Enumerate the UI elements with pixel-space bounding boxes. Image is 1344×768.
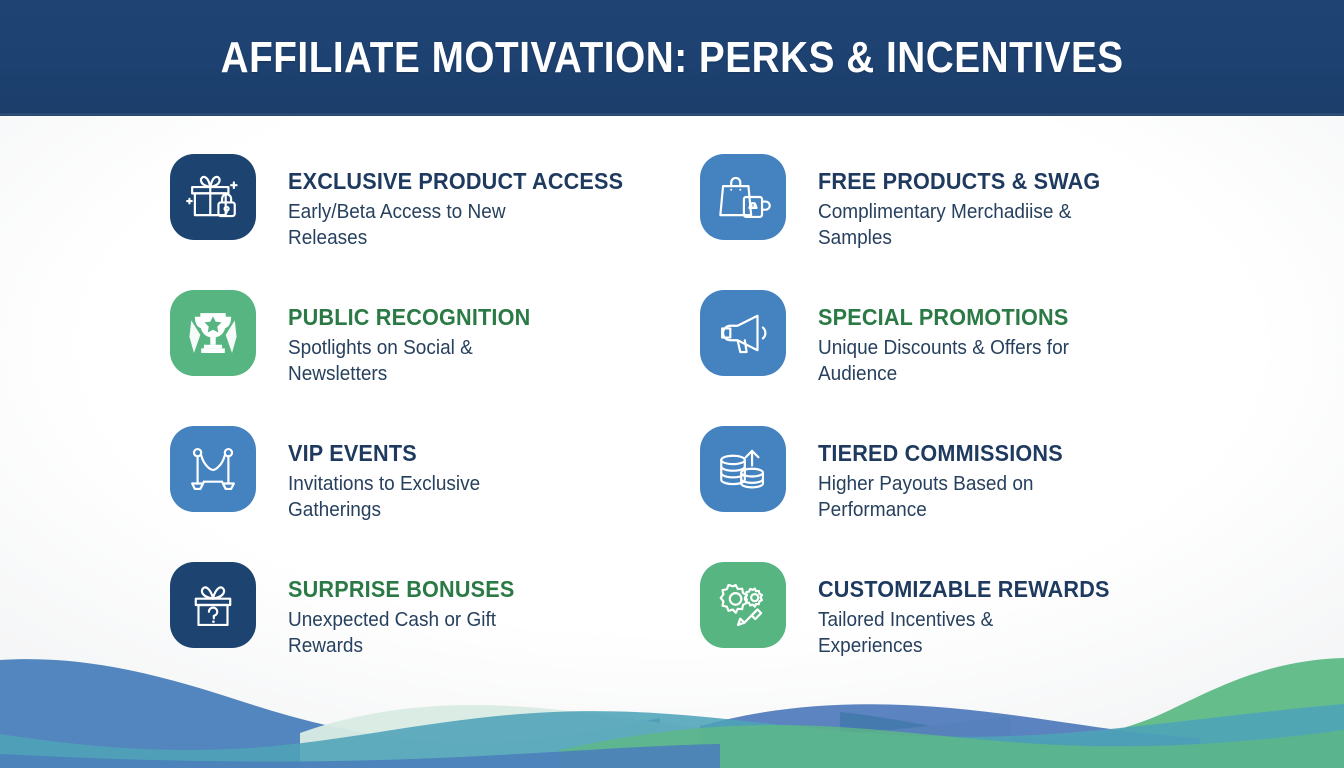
perk-item: PUBLIC RECOGNITION Spotlights on Social … (170, 288, 650, 402)
gears-brush-icon (700, 562, 786, 648)
perk-item: CUSTOMIZABLE REWARDS Tailored Incentives… (700, 560, 1180, 674)
perk-item: SPECIAL PROMOTIONS Unique Discounts & Of… (700, 288, 1180, 402)
wave-blue-foot (0, 744, 720, 768)
wave-green-front (560, 725, 1344, 768)
wave-mint-mid (300, 705, 1010, 768)
perk-title: EXCLUSIVE PRODUCT ACCESS (288, 169, 623, 193)
perk-item: TIERED COMMISSIONS Higher Payouts Based … (700, 424, 1180, 538)
perk-subtitle: Spotlights on Social & Newsletters (288, 336, 564, 387)
perk-item: SURPRISE BONUSES Unexpected Cash or Gift… (170, 560, 650, 674)
perk-text: SURPRISE BONUSES Unexpected Cash or Gift… (256, 560, 578, 660)
perk-subtitle: Unique Discounts & Offers for Audience (818, 336, 1094, 387)
perk-title: SURPRISE BONUSES (288, 577, 561, 601)
coin-stack-arrow-icon (700, 426, 786, 512)
page-title: AFFILIATE MOTIVATION: PERKS & INCENTIVES (220, 36, 1123, 80)
shopping-bag-mug-icon (700, 154, 786, 240)
perk-title: SPECIAL PROMOTIONS (818, 305, 1091, 329)
perk-text: CUSTOMIZABLE REWARDS Tailored Incentives… (786, 560, 1128, 660)
velvet-rope-icon (170, 426, 256, 512)
trophy-icon (170, 290, 256, 376)
gift-lock-icon (170, 154, 256, 240)
perk-item: FREE PRODUCTS & SWAG Complimentary Merch… (700, 152, 1180, 266)
wave-green-back (840, 658, 1344, 768)
header-band: AFFILIATE MOTIVATION: PERKS & INCENTIVES (0, 0, 1344, 116)
perk-subtitle: Invitations to Exclusive Gatherings (288, 472, 564, 523)
perk-text: FREE PRODUCTS & SWAG Complimentary Merch… (786, 152, 1118, 252)
wave-blue-back (0, 659, 660, 768)
perk-title: FREE PRODUCTS & SWAG (818, 169, 1100, 193)
perk-title: PUBLIC RECOGNITION (288, 305, 561, 329)
perk-text: VIP EVENTS Invitations to Exclusive Gath… (256, 424, 578, 524)
wave-blue-mid (700, 704, 1200, 768)
perk-title: VIP EVENTS (288, 441, 561, 465)
perk-text: EXCLUSIVE PRODUCT ACCESS Early/Beta Acce… (256, 152, 645, 252)
megaphone-icon (700, 290, 786, 376)
perk-title: CUSTOMIZABLE REWARDS (818, 577, 1110, 601)
perks-grid: EXCLUSIVE PRODUCT ACCESS Early/Beta Acce… (170, 152, 1180, 674)
perk-text: PUBLIC RECOGNITION Spotlights on Social … (256, 288, 578, 388)
perk-item: VIP EVENTS Invitations to Exclusive Gath… (170, 424, 650, 538)
mystery-gift-icon (170, 562, 256, 648)
perk-subtitle: Complimentary Merchadiise & Samples (818, 200, 1094, 251)
perk-title: TIERED COMMISSIONS (818, 441, 1091, 465)
perk-subtitle: Higher Payouts Based on Performance (818, 472, 1094, 523)
perk-text: TIERED COMMISSIONS Higher Payouts Based … (786, 424, 1108, 524)
perk-subtitle: Tailored Incentives & Experiences (818, 608, 1094, 659)
wave-teal-front (0, 704, 1344, 768)
infographic-poster: AFFILIATE MOTIVATION: PERKS & INCENTIVES (0, 0, 1344, 768)
perk-text: SPECIAL PROMOTIONS Unique Discounts & Of… (786, 288, 1108, 388)
perk-subtitle: Early/Beta Access to New Releases (288, 200, 564, 251)
perk-subtitle: Unexpected Cash or Gift Rewards (288, 608, 564, 659)
perk-item: EXCLUSIVE PRODUCT ACCESS Early/Beta Acce… (170, 152, 650, 266)
